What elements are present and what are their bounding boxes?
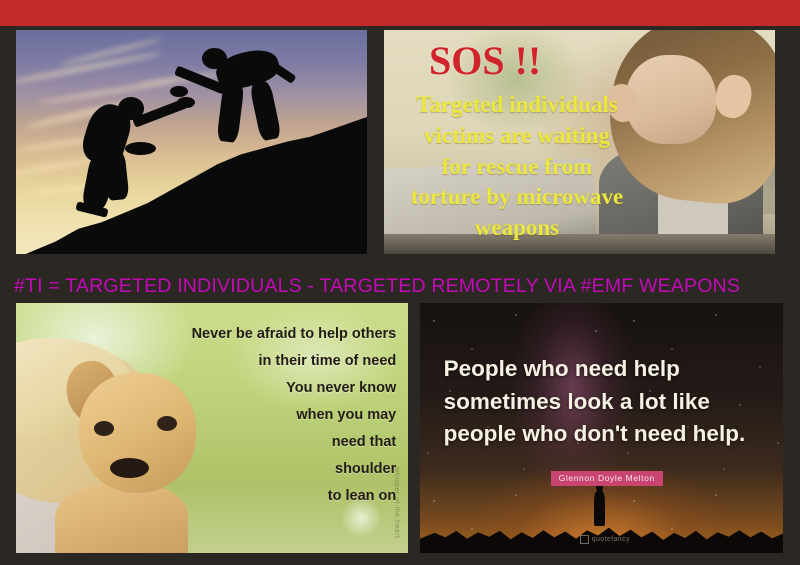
sos-line-1: Targeted individuals	[384, 90, 650, 121]
puppy-line-5: need that	[153, 429, 396, 456]
collage-page: SOS !! Targeted individuals victims are …	[0, 0, 800, 565]
puppy-line-1: Never be afraid to help others	[153, 321, 396, 348]
image-night-sky-quote[interactable]: People who need help sometimes look a lo…	[420, 303, 783, 553]
puppy-quote-text: Never be afraid to help others in their …	[153, 321, 396, 511]
stars-line-2: sometimes look a lot like	[444, 386, 763, 419]
sos-overlay-text: Targeted individuals victims are waiting…	[384, 90, 650, 243]
sos-line-3: for rescue from	[384, 152, 650, 183]
lone-person-body	[594, 490, 604, 526]
puppy-watermark: whisper of the heart	[393, 467, 400, 538]
puppy-line-4: when you may	[153, 402, 396, 429]
puppy-line-6: shoulder	[153, 456, 396, 483]
stars-line-1: People who need help	[444, 353, 763, 386]
puppy-line-7: to lean on	[153, 483, 396, 510]
puppy-eye-left	[94, 421, 114, 436]
sos-title: SOS !!	[429, 37, 541, 84]
image-boy-and-puppy-quote[interactable]: Never be afraid to help others in their …	[16, 303, 408, 553]
lone-person-silhouette	[592, 481, 607, 526]
sos-line-2: victims are waiting	[384, 121, 650, 152]
stars-quote-text: People who need help sometimes look a lo…	[444, 353, 763, 451]
puppy-line-3: You never know	[153, 375, 396, 402]
quotefancy-watermark: quotefancy	[580, 535, 630, 544]
quote-attribution-badge: Glennon Doyle Melton	[551, 471, 663, 486]
sos-line-5: weapons	[384, 213, 650, 244]
image-climbers-helping-hand[interactable]	[16, 30, 367, 254]
quotefancy-watermark-text: quotefancy	[592, 536, 630, 543]
puppy-line-2: in their time of need	[153, 348, 396, 375]
hashtag-banner-text: #TI = TARGETED INDIVIDUALS - TARGETED RE…	[14, 274, 786, 298]
stars-line-3: people who don't need help.	[444, 418, 763, 451]
upper-climber-head	[202, 48, 227, 69]
puppy-nose	[110, 458, 149, 478]
sos-line-4: torture by microwave	[384, 182, 650, 213]
top-accent-bar	[0, 0, 800, 26]
quotefancy-logo-icon	[580, 535, 589, 544]
image-sos-microwave-weapons[interactable]: SOS !! Targeted individuals victims are …	[384, 30, 775, 254]
